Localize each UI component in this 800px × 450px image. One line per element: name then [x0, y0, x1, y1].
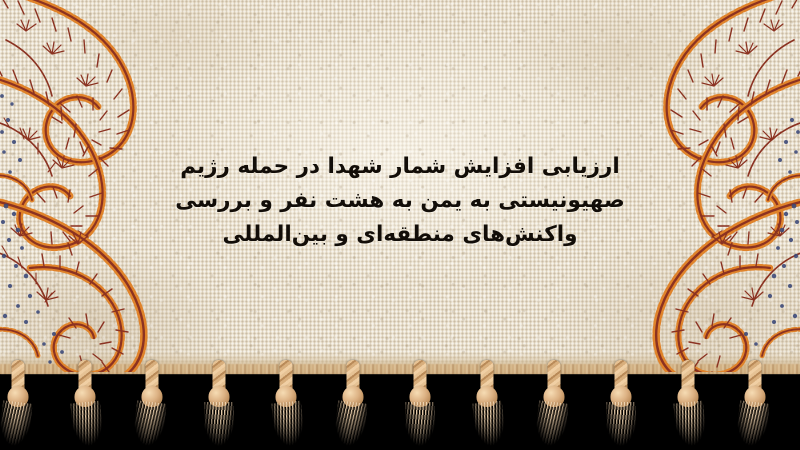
tassel	[599, 360, 643, 450]
tassel-skirt	[673, 400, 707, 447]
tassel-skirt	[735, 400, 770, 447]
tassel-skirt	[204, 402, 234, 446]
tassel-skirt	[606, 402, 636, 446]
tassel-skirt	[271, 400, 305, 447]
tassel-skirt	[132, 400, 167, 447]
banner-image: ارزیابی افزایش شمار شهدا در حمله رژیم صه…	[0, 0, 800, 450]
tassel	[130, 360, 174, 450]
tassel-skirt	[405, 402, 435, 446]
tassel	[197, 360, 241, 450]
tassel	[465, 360, 509, 450]
tassel	[264, 360, 308, 450]
tassel-skirt	[70, 400, 104, 447]
headline-text: ارزیابی افزایش شمار شهدا در حمله رژیم صه…	[150, 150, 650, 252]
tassel	[398, 360, 442, 450]
tassel	[532, 360, 576, 450]
tassel-skirt	[534, 400, 569, 447]
tassel	[63, 360, 107, 450]
tassel	[666, 360, 710, 450]
headline-line-2: صهیونیستی به یمن به هشت نفر و بررسی	[150, 184, 650, 218]
tassel	[733, 360, 777, 450]
tassel	[331, 360, 375, 450]
tassel-skirt	[333, 400, 368, 447]
tassel-fringe	[0, 360, 800, 450]
headline-line-3: واکنش‌های منطقه‌ای و بین‌المللی	[150, 218, 650, 252]
tassel-skirt	[472, 400, 506, 447]
tassel-skirt	[0, 400, 33, 447]
headline-line-1: ارزیابی افزایش شمار شهدا در حمله رژیم	[150, 150, 650, 184]
tassel	[0, 360, 40, 450]
